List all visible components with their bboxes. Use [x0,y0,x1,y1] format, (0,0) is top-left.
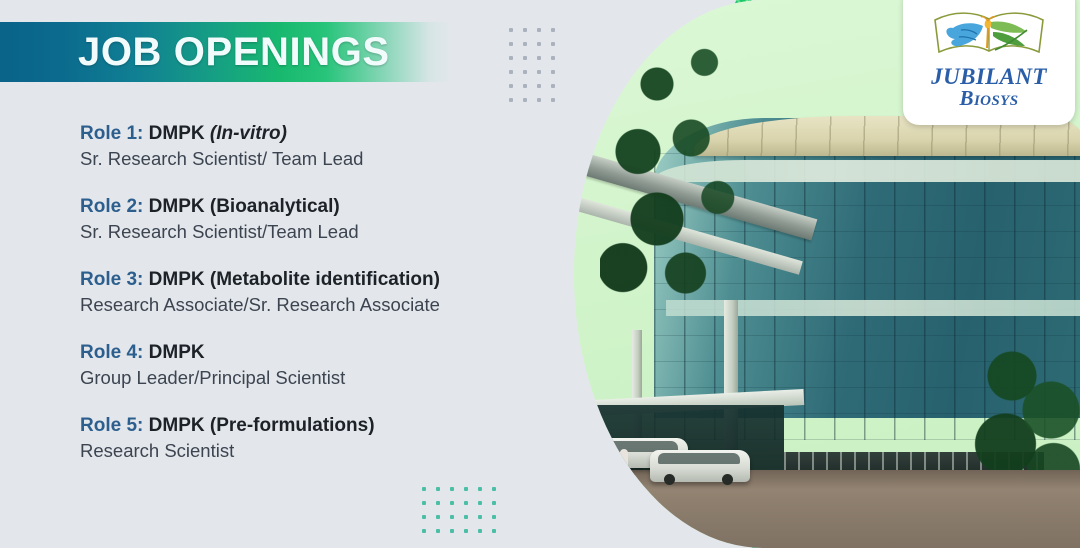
decor-dot [509,84,513,88]
decor-dot [450,487,454,491]
decor-dot [478,529,482,533]
decor-dot [509,42,513,46]
list-item: Role 3: DMPK (Metabolite identification)… [80,267,510,318]
decor-dot [509,70,513,74]
list-item: Role 4: DMPK Group Leader/Principal Scie… [80,340,510,391]
list-item: Role 1: DMPK (In-vitro) Sr. Research Sci… [80,121,510,172]
role-title: DMPK (Pre-formulations) [149,415,375,436]
role-key: Role 2: [80,196,143,217]
decor-dot [422,515,426,519]
decor-dot [464,501,468,505]
role-positions: Group Leader/Principal Scientist [80,365,510,391]
decor-dot [478,487,482,491]
decor-dot [478,501,482,505]
role-title: DMPK [149,123,205,144]
tree-foliage-left [600,30,790,300]
butterfly-book-icon [931,8,1047,60]
role-title: DMPK [149,342,205,363]
decor-dot [422,501,426,505]
decor-dot [464,487,468,491]
roles-list: Role 1: DMPK (In-vitro) Sr. Research Sci… [80,121,510,464]
decor-dot [509,56,513,60]
role-heading: Role 1: DMPK (In-vitro) [80,121,510,146]
decor-dot [478,515,482,519]
role-key: Role 4: [80,342,143,363]
role-qualifier: (In-vitro) [210,123,287,144]
decor-dot [492,487,496,491]
role-positions: Sr. Research Scientist/Team Lead [80,219,510,245]
role-positions: Research Associate/Sr. Research Associat… [80,292,510,318]
decor-dot [492,501,496,505]
role-key: Role 3: [80,269,143,290]
role-title: DMPK (Metabolite identification) [149,269,440,290]
role-heading: Role 3: DMPK (Metabolite identification) [80,267,510,292]
decor-dot [492,529,496,533]
role-key: Role 1: [80,123,143,144]
decor-dot [422,529,426,533]
decor-dot [436,487,440,491]
decor-dot [436,501,440,505]
list-item: Role 5: DMPK (Pre-formulations) Research… [80,413,510,464]
decor-dot [464,515,468,519]
role-title: DMPK (Bioanalytical) [149,196,340,217]
visitor-figure [601,452,609,478]
company-logo-card: JUBILANT Biosys [903,0,1075,125]
role-heading: Role 5: DMPK (Pre-formulations) [80,413,510,438]
car-wheel [664,474,675,485]
decor-dot [509,28,513,32]
job-openings-poster: JOB OPENINGS Role 1: DMPK (In-vitro) Sr.… [0,0,1080,548]
logo-wordmark-secondary: Biosys [903,86,1075,111]
decor-dot [464,529,468,533]
car-window [658,453,740,464]
decor-dot [509,98,513,102]
decor-dot [436,515,440,519]
role-positions: Research Scientist [80,438,510,464]
list-item: Role 2: DMPK (Bioanalytical) Sr. Researc… [80,194,510,245]
visitor-figure [620,449,628,475]
decor-dot [422,487,426,491]
role-heading: Role 2: DMPK (Bioanalytical) [80,194,510,219]
page-title: JOB OPENINGS [78,30,390,74]
decor-dot [492,515,496,519]
role-positions: Sr. Research Scientist/ Team Lead [80,146,510,172]
parked-car [650,450,750,482]
decor-dot [450,515,454,519]
decor-dot [450,529,454,533]
role-key: Role 5: [80,415,143,436]
role-heading: Role 4: DMPK [80,340,510,365]
visitor-figure [610,450,618,476]
car-wheel [722,474,733,485]
decor-dot [436,529,440,533]
dot-grid-teal-icon [422,487,506,543]
decor-dot [450,501,454,505]
